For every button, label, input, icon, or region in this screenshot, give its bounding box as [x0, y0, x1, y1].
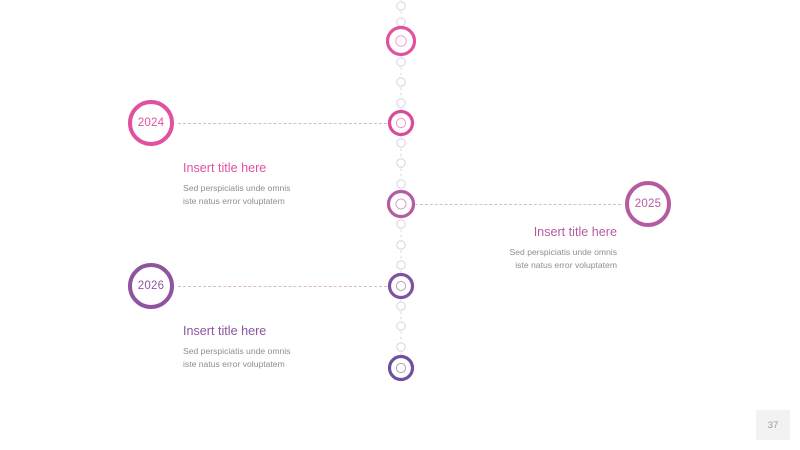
page-number-badge: 37 [756, 410, 790, 440]
year-badge-2024[interactable]: 2024 [128, 100, 174, 146]
connector-2024 [178, 123, 387, 124]
description-line-1: Sed perspiciatis unde omnis [510, 247, 617, 257]
year-badge-2026[interactable]: 2026 [128, 263, 174, 309]
milestone-text-2024: Insert title here Sed perspiciatis unde … [183, 160, 413, 208]
page-number-label: 37 [768, 420, 779, 431]
milestone-description-2025: Sed perspiciatis unde omnis iste natus e… [387, 246, 617, 272]
connector-2025 [415, 204, 621, 205]
milestone-text-2025: Insert title here Sed perspiciatis unde … [387, 224, 617, 272]
connector-2026 [178, 286, 387, 287]
description-line-1: Sed perspiciatis unde omnis [183, 346, 290, 356]
year-label-2024: 2024 [138, 117, 164, 129]
milestone-title-2024: Insert title here [183, 160, 413, 176]
slide-canvas: 2024 2025 2026 Insert title here Sed per… [0, 0, 800, 450]
description-line-2: iste natus error voluptatem [183, 359, 285, 369]
description-line-1: Sed perspiciatis unde omnis [183, 183, 290, 193]
description-line-2: iste natus error voluptatem [515, 260, 617, 270]
year-label-2025: 2025 [635, 198, 661, 210]
milestone-description-2026: Sed perspiciatis unde omnis iste natus e… [183, 345, 413, 371]
milestone-title-2026: Insert title here [183, 323, 413, 339]
year-label-2026: 2026 [138, 280, 164, 292]
year-badge-2025[interactable]: 2025 [625, 181, 671, 227]
milestone-title-2025: Insert title here [387, 224, 617, 240]
milestone-text-2026: Insert title here Sed perspiciatis unde … [183, 323, 413, 371]
milestone-description-2024: Sed perspiciatis unde omnis iste natus e… [183, 182, 413, 208]
description-line-2: iste natus error voluptatem [183, 196, 285, 206]
